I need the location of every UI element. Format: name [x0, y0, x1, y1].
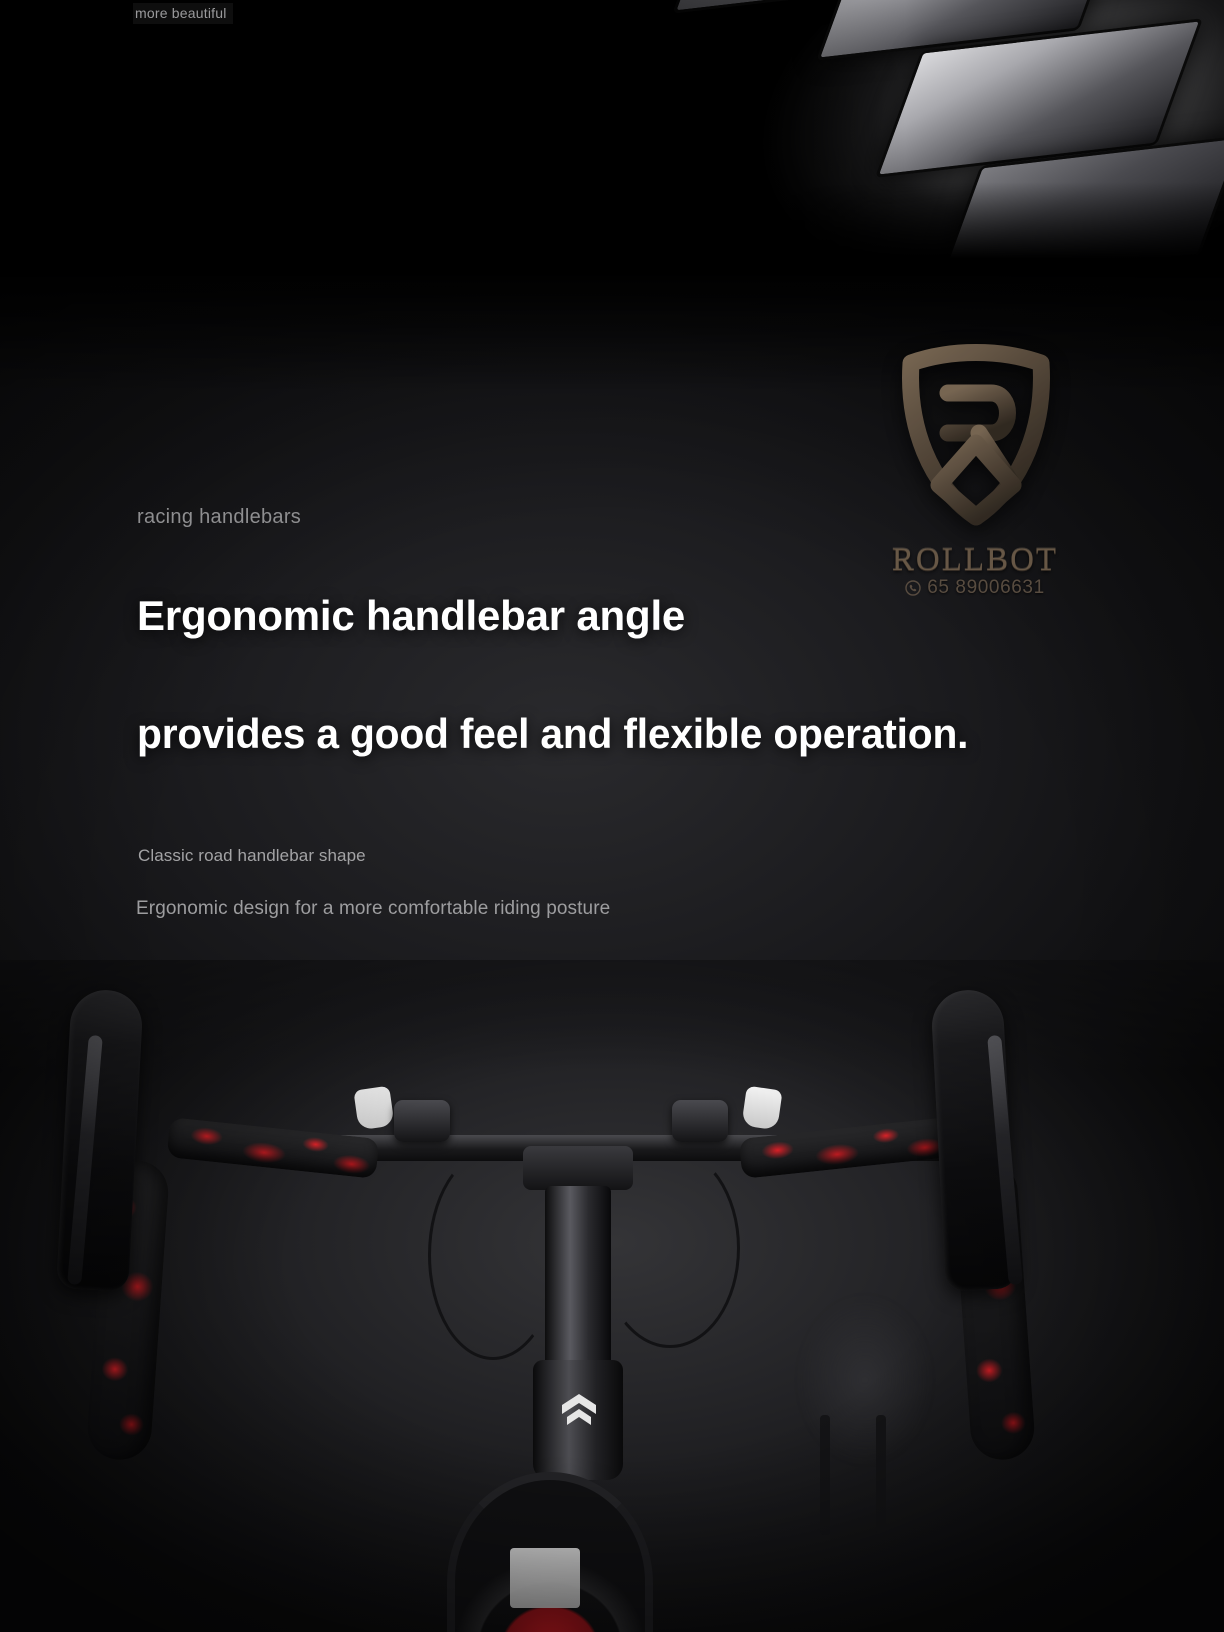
feature-subtext-secondary: Ergonomic design for a more comfortable …: [136, 898, 610, 920]
phone-number: 65 89006631: [927, 577, 1045, 599]
page-title-second-line: provides a good feel and flexible operat…: [137, 710, 968, 758]
banner-bottom-fade: [0, 182, 1224, 272]
feature-subtext-primary: Classic road handlebar shape: [138, 846, 366, 866]
banner-caption: more beautiful: [133, 3, 233, 24]
product-photo: [0, 960, 1224, 1632]
brand-watermark: ROLLBOT 65 89006631: [845, 335, 1105, 605]
brand-name: ROLLBOT: [845, 542, 1105, 579]
section-eyebrow: racing handlebars: [137, 506, 301, 529]
whatsapp-phone-icon: [905, 580, 921, 596]
photo-vignette: [0, 960, 1224, 1632]
brand-contact: 65 89006631: [845, 577, 1105, 599]
top-product-banner: more beautiful: [0, 0, 1224, 272]
shield-emblem-icon: [873, 335, 1078, 540]
page-title: Ergonomic handlebar angle: [137, 592, 685, 640]
